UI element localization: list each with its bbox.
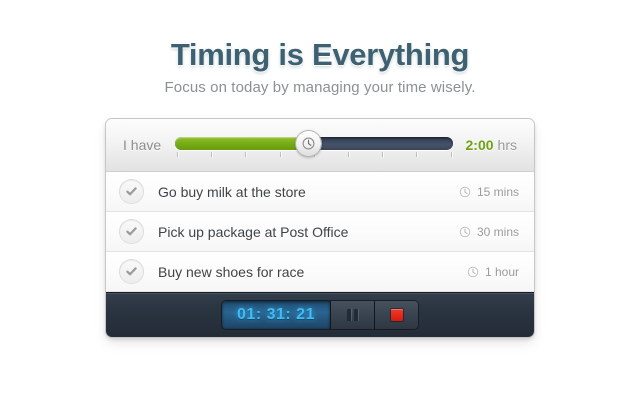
page-title: Timing is Everything — [0, 38, 640, 71]
time-slider-bar: I have 2:00 hrs — [106, 119, 534, 172]
timer-value: 01: 31: 21 — [237, 306, 315, 324]
task-duration: 30 mins — [459, 225, 519, 239]
check-icon — [125, 185, 138, 198]
clock-icon — [459, 186, 471, 198]
clock-icon — [467, 266, 479, 278]
clock-icon — [302, 137, 315, 150]
task-row[interactable]: Pick up package at Post Office30 mins — [106, 212, 534, 252]
slider-value: 2:00 — [466, 137, 494, 153]
task-duration: 1 hour — [467, 265, 519, 279]
timer-controls-group: 01: 31: 21 — [222, 301, 418, 329]
time-slider[interactable] — [175, 132, 452, 158]
pause-button[interactable] — [331, 301, 375, 329]
card-container: I have 2:00 hrs Go buy milk at the store… — [0, 119, 640, 337]
slider-unit: hrs — [498, 137, 517, 153]
slider-tick — [245, 152, 246, 157]
task-check-button[interactable] — [120, 220, 143, 243]
slider-tick — [177, 152, 178, 157]
page-subtitle: Focus on today by managing your time wis… — [0, 79, 640, 96]
slider-tick — [451, 152, 452, 157]
pause-bar-left — [347, 309, 351, 321]
check-icon — [125, 225, 138, 238]
slider-tick — [348, 152, 349, 157]
timer-footer: 01: 31: 21 — [106, 292, 534, 337]
task-title: Go buy milk at the store — [158, 184, 459, 200]
clock-icon — [459, 226, 471, 238]
pause-bar-right — [354, 309, 358, 321]
stop-button[interactable] — [375, 301, 418, 329]
slider-track-fill — [175, 137, 308, 150]
page-header: Timing is Everything Focus on today by m… — [0, 0, 640, 96]
task-check-button[interactable] — [120, 260, 143, 283]
slider-tick — [211, 152, 212, 157]
task-list: Go buy milk at the store15 minsPick up p… — [106, 172, 534, 292]
timing-card: I have 2:00 hrs Go buy milk at the store… — [106, 119, 534, 337]
slider-tick — [280, 152, 281, 157]
task-row[interactable]: Go buy milk at the store15 mins — [106, 172, 534, 212]
task-duration-text: 15 mins — [477, 185, 519, 199]
task-duration-text: 1 hour — [485, 265, 519, 279]
stop-icon — [391, 309, 403, 321]
slider-tick — [382, 152, 383, 157]
task-title: Buy new shoes for race — [158, 264, 467, 280]
slider-tick — [416, 152, 417, 157]
check-icon — [125, 265, 138, 278]
task-duration: 15 mins — [459, 185, 519, 199]
task-check-button[interactable] — [120, 180, 143, 203]
task-title: Pick up package at Post Office — [158, 224, 459, 240]
task-duration-text: 30 mins — [477, 225, 519, 239]
pause-icon — [347, 309, 358, 321]
task-row[interactable]: Buy new shoes for race1 hour — [106, 252, 534, 292]
timer-display[interactable]: 01: 31: 21 — [222, 301, 331, 329]
slider-label: I have — [123, 137, 161, 153]
